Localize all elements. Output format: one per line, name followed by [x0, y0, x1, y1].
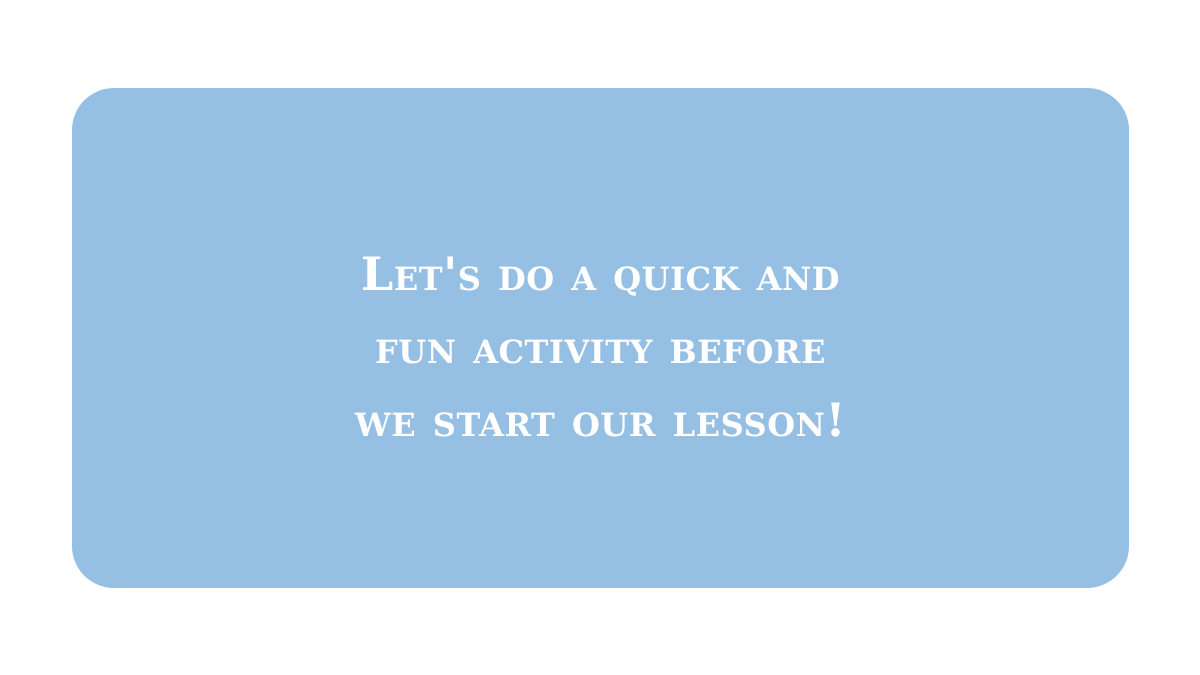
headline-line-3: we start our lesson! [112, 384, 1089, 457]
headline-text-block: Let's do a quick and fun activity before… [72, 238, 1129, 457]
slide-canvas: Let's do a quick and fun activity before… [0, 0, 1200, 675]
announcement-card: Let's do a quick and fun activity before… [72, 88, 1129, 588]
headline-line-2: fun activity before [112, 311, 1089, 384]
headline-line-1: Let's do a quick and [112, 238, 1089, 311]
